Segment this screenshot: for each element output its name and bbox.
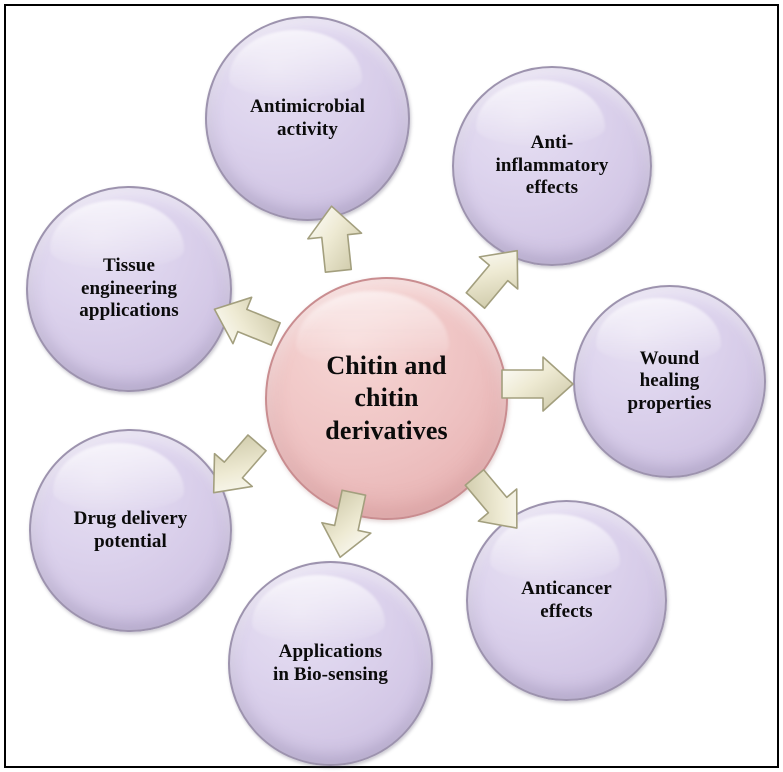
- node-center-chitin-and-chitin-derivatives[interactable]: Chitin and chitin derivatives: [265, 277, 508, 520]
- node-label-tissue-engineering-applications: Tissue engineering applications: [71, 255, 186, 322]
- node-label-drug-delivery-potential: Drug delivery potential: [66, 508, 196, 553]
- node-label-applications-in-bio-sensing: Applications in Bio-sensing: [265, 641, 396, 686]
- node-label-anticancer-effects: Anticancer effects: [513, 578, 620, 623]
- node-anticancer-effects[interactable]: Anticancer effects: [466, 500, 667, 701]
- node-drug-delivery-potential[interactable]: Drug delivery potential: [29, 429, 232, 632]
- node-label-center: Chitin and chitin derivatives: [317, 350, 455, 447]
- arrow-to-wound-healing-properties: [497, 353, 577, 415]
- diagram-canvas: Antimicrobial activity Anti- inflammator…: [0, 0, 783, 772]
- node-label-antimicrobial-activity: Antimicrobial activity: [242, 96, 373, 141]
- node-applications-in-bio-sensing[interactable]: Applications in Bio-sensing: [228, 561, 433, 766]
- node-tissue-engineering-applications[interactable]: Tissue engineering applications: [26, 186, 232, 392]
- node-wound-healing-properties[interactable]: Wound healing properties: [573, 285, 766, 478]
- node-label-anti-inflammatory-effects: Anti- inflammatory effects: [487, 132, 616, 199]
- node-anti-inflammatory-effects[interactable]: Anti- inflammatory effects: [452, 66, 652, 266]
- node-label-wound-healing-properties: Wound healing properties: [619, 348, 719, 415]
- node-antimicrobial-activity[interactable]: Antimicrobial activity: [205, 16, 410, 221]
